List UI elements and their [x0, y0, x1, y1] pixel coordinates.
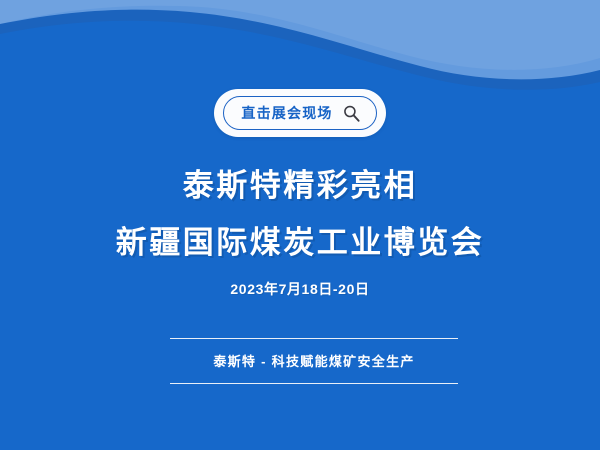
- headline-line-1: 泰斯特精彩亮相: [0, 170, 600, 201]
- badge-label: 直击展会现场: [241, 106, 332, 120]
- live-coverage-badge[interactable]: 直击展会现场: [214, 89, 385, 137]
- badge-inner-frame: 直击展会现场: [223, 96, 376, 130]
- badge-row: 直击展会现场: [0, 89, 600, 137]
- headline-block: 泰斯特精彩亮相 新疆国际煤炭工业博览会 2023年7月18日-20日: [0, 170, 600, 296]
- headline-line-2: 新疆国际煤炭工业博览会: [0, 227, 600, 258]
- event-date: 2023年7月18日-20日: [0, 282, 600, 296]
- wave-decoration: [0, 0, 600, 100]
- search-icon: [342, 104, 361, 123]
- slogan-block: 泰斯特 - 科技赋能煤矿安全生产: [170, 338, 458, 384]
- poster-canvas: 直击展会现场 泰斯特精彩亮相 新疆国际煤炭工业博览会 2023年7月18日-20…: [0, 0, 600, 450]
- slogan-rule-bottom: [170, 383, 458, 384]
- slogan-text: 泰斯特 - 科技赋能煤矿安全生产: [170, 339, 458, 383]
- wave-mid-shape: [0, 0, 600, 88]
- wave-light-shape: [0, 0, 600, 70]
- wave-deep-shape: [0, 10, 600, 100]
